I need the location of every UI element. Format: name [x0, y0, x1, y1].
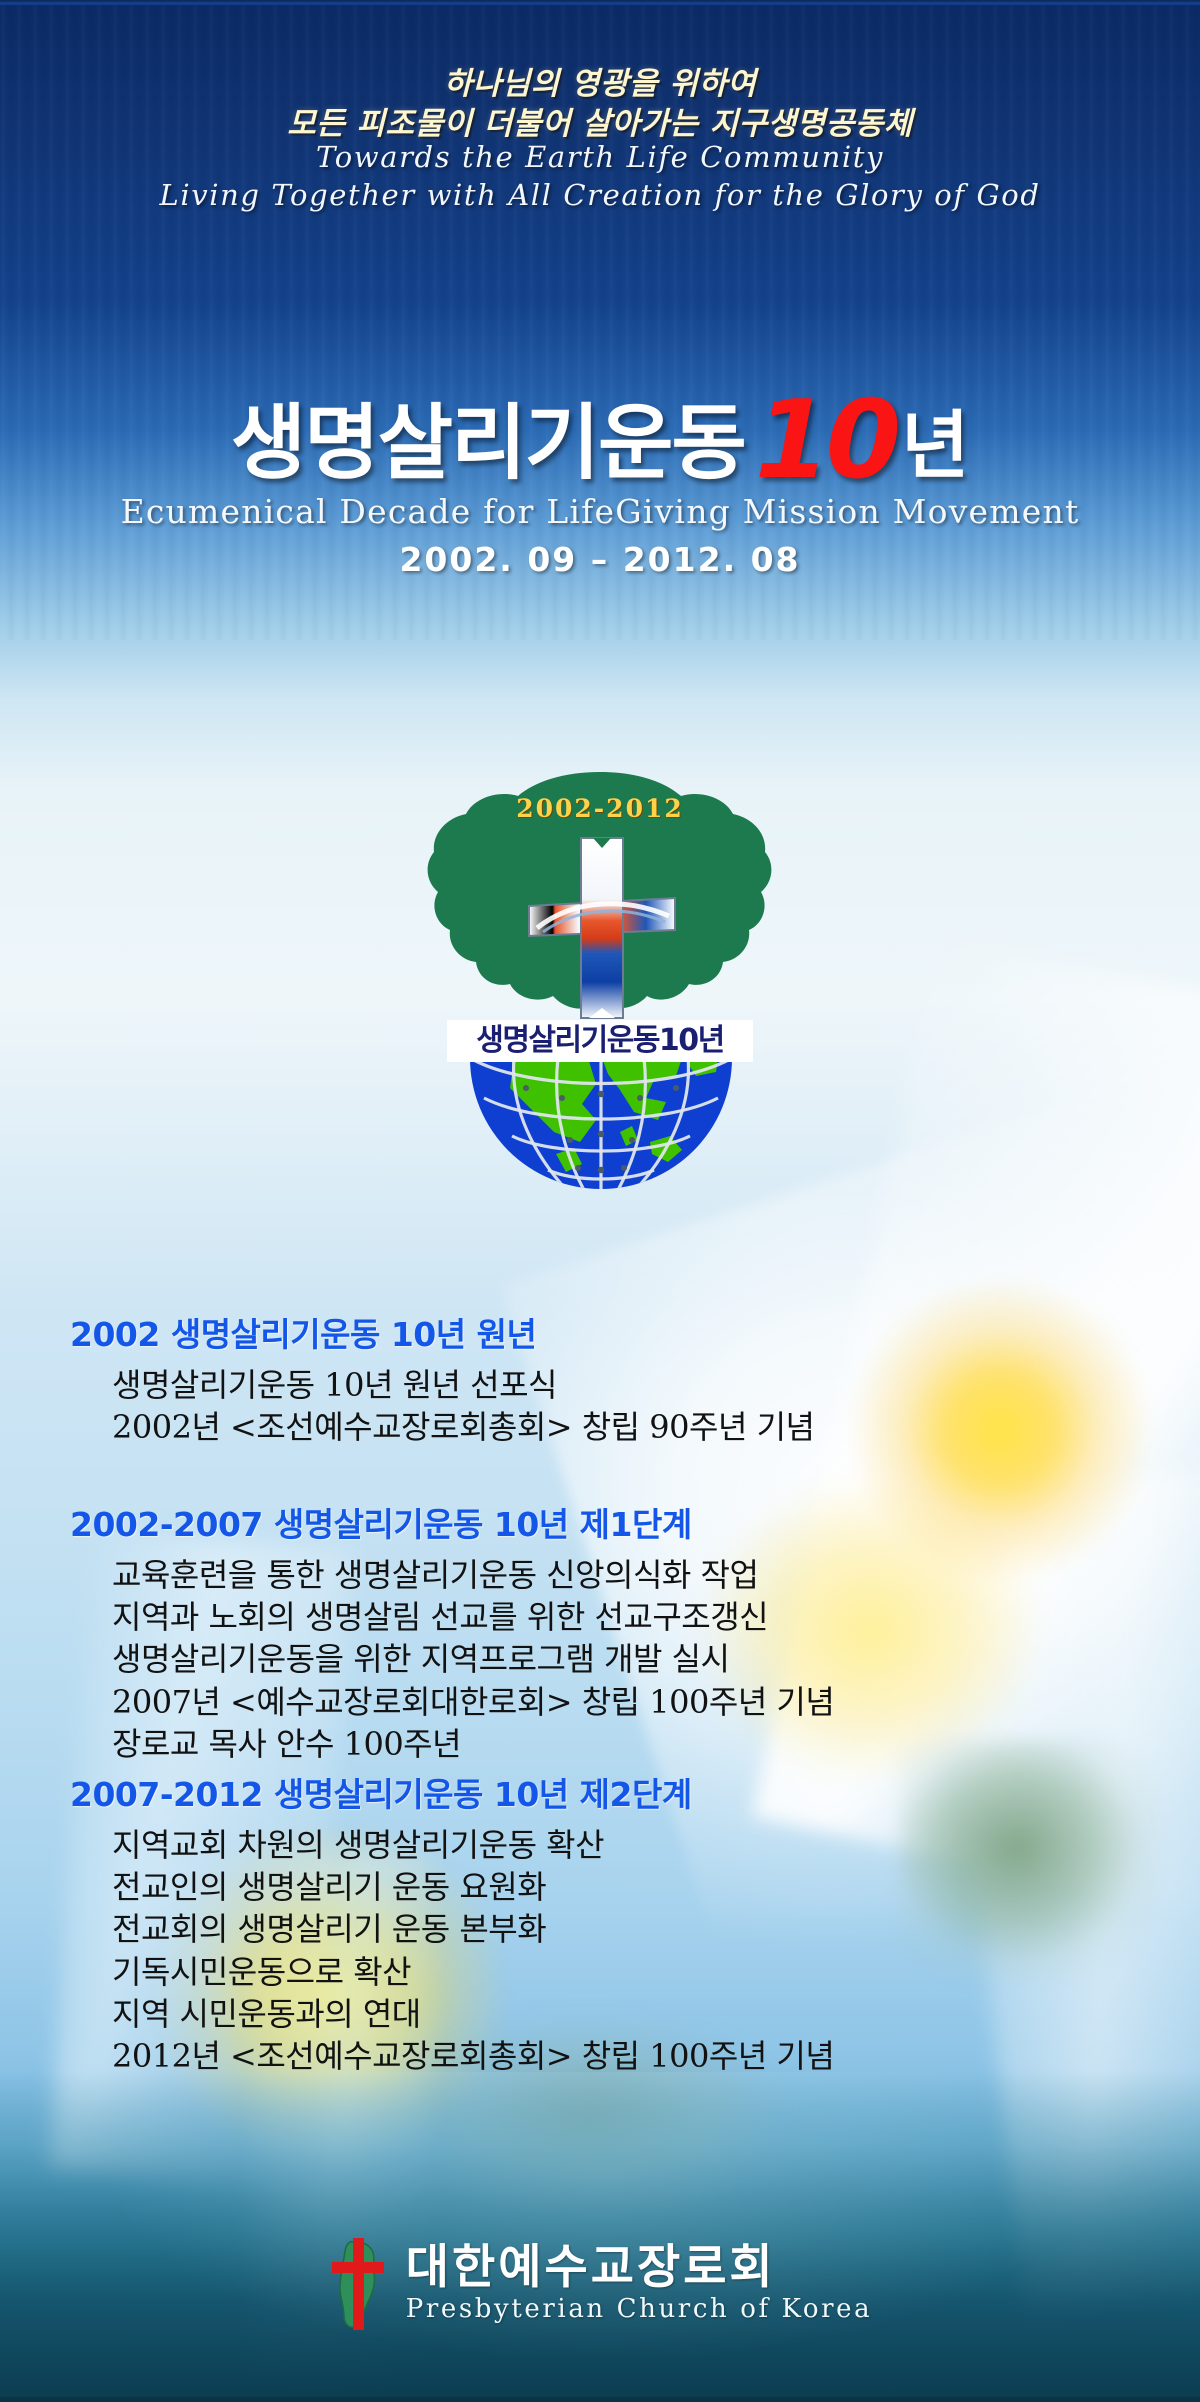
title-date-range: 2002. 09 – 2012. 08 [0, 540, 1200, 579]
cross-icon [527, 832, 677, 1022]
emblem-year-range: 2002-2012 [425, 794, 775, 823]
section-line: 교육훈련을 통한 생명살리기운동 신앙의식화 작업 [0, 1554, 1200, 1596]
slogan-korean-line-1: 하나님의 영광을 위하여 [0, 58, 1200, 103]
pck-name-english: Presbyterian Church of Korea [406, 2294, 873, 2324]
section-line: 전교회의 생명살리기 운동 본부화 [0, 1908, 1200, 1950]
section-heading: 2002-2007 생명살리기운동 10년 제1단계 [0, 1498, 1200, 1546]
section-heading: 2002 생명살리기운동 10년 원년 [0, 1308, 1200, 1356]
footer-branding: 대한예수교장로회 Presbyterian Church of Korea [0, 2238, 1200, 2368]
title-main-korean: 생명살리기운동 [231, 376, 745, 495]
section-line: 생명살리기운동을 위한 지역프로그램 개발 실시 [0, 1638, 1200, 1680]
section-line: 장로교 목사 안수 100주년 [0, 1723, 1200, 1765]
section-line: 지역 시민운동과의 연대 [0, 1993, 1200, 2035]
timeline-section-2002: 2002 생명살리기운동 10년 원년 생명살리기운동 10년 원년 선포식 2… [0, 1308, 1200, 1448]
slogan-english-line-1: Towards the Earth Life Community [0, 140, 1200, 174]
globe-icon [470, 1058, 732, 1208]
section-line: 생명살리기운동 10년 원년 선포식 [0, 1364, 1200, 1406]
slogan-english-line-2: Living Together with All Creation for th… [0, 178, 1200, 212]
title-subtitle-english: Ecumenical Decade for LifeGiving Mission… [0, 492, 1200, 531]
section-line: 2012년 <조선예수교장로회총회> 창립 100주년 기념 [0, 2035, 1200, 2077]
section-line: 지역교회 차원의 생명살리기운동 확산 [0, 1824, 1200, 1866]
timeline-section-2007-2012: 2007-2012 생명살리기운동 10년 제2단계 지역교회 차원의 생명살리… [0, 1768, 1200, 2077]
title-decade-number: 10 [755, 378, 897, 503]
section-line: 지역과 노회의 생명살림 선교를 위한 선교구조갱신 [0, 1596, 1200, 1638]
slogan-korean-line-2: 모든 피조물이 더불어 살아가는 지구생명공동체 [0, 98, 1200, 143]
section-heading: 2007-2012 생명살리기운동 10년 제2단계 [0, 1768, 1200, 1816]
section-line: 2002년 <조선예수교장로회총회> 창립 90주년 기념 [0, 1406, 1200, 1448]
pck-name-korean: 대한예수교장로회 [406, 2244, 776, 2292]
section-line: 전교인의 생명살리기 운동 요원화 [0, 1866, 1200, 1908]
emblem-name-text: 생명살리기운동10년 [447, 1020, 753, 1062]
section-line: 기독시민운동으로 확산 [0, 1951, 1200, 1993]
page-title: 생명살리기운동 10 년 [0, 372, 1200, 497]
pck-logo-icon [328, 2238, 390, 2330]
title-year-suffix: 년 [901, 386, 969, 493]
decade-emblem: 2002-2012 [425, 770, 775, 1170]
timeline-section-2002-2007: 2002-2007 생명살리기운동 10년 제1단계 교육훈련을 통한 생명살리… [0, 1498, 1200, 1765]
section-line: 2007년 <예수교장로회대한로회> 창립 100주년 기념 [0, 1681, 1200, 1723]
poster-canvas: 하나님의 영광을 위하여 모든 피조물이 더불어 살아가는 지구생명공동체 To… [0, 0, 1200, 2402]
